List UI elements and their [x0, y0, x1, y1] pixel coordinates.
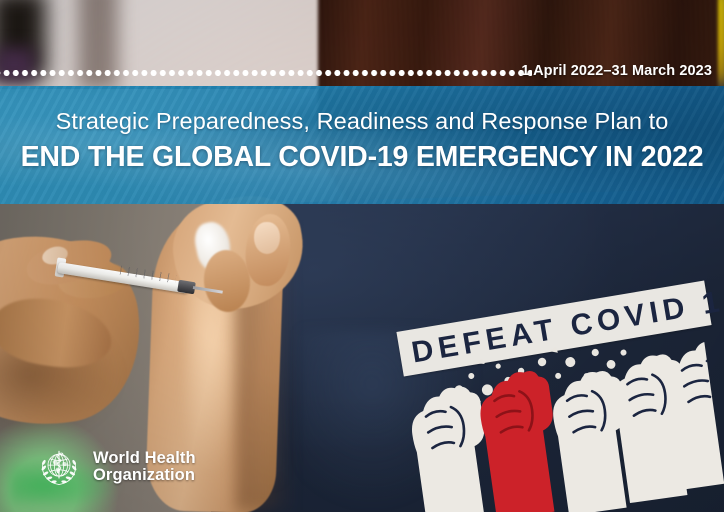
who-name-line-1: World Health — [93, 450, 196, 468]
who-emblem-icon — [36, 444, 82, 490]
report-cover: DEFEAT COVID 19 — [0, 0, 724, 512]
who-name-line-2: Organization — [93, 467, 196, 485]
page-subtitle: Strategic Preparedness, Readiness and Re… — [0, 106, 724, 136]
patient-fingernail — [254, 222, 280, 254]
page-title: END THE GLOBAL COVID-19 EMERGENCY IN 202… — [0, 140, 724, 174]
title-block: Strategic Preparedness, Readiness and Re… — [0, 0, 724, 174]
who-logo-text: World Health Organization — [93, 450, 196, 485]
who-logo: World Health Organization — [36, 444, 196, 490]
tshirt-print: DEFEAT COVID 19 — [392, 282, 722, 512]
